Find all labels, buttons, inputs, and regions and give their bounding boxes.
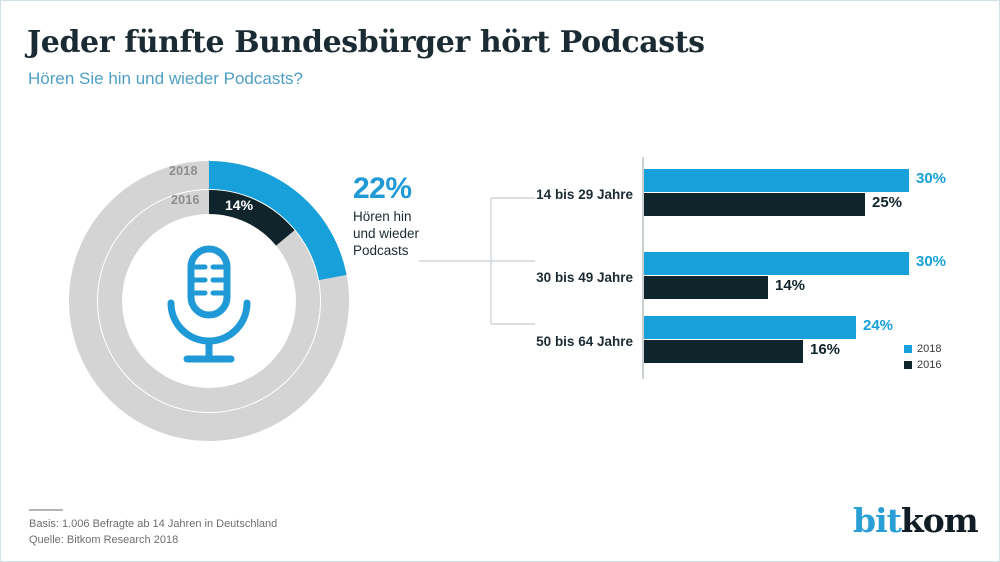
- footer-divider: [29, 509, 63, 511]
- bitkom-logo-kom: kom: [901, 501, 978, 540]
- infographic-canvas: Jeder fünfte Bundesbürger hört Podcasts …: [0, 0, 1000, 562]
- legend-swatch-2018-icon: [904, 345, 912, 353]
- bar-group-label-0: 14 bis 29 Jahre: [536, 187, 633, 202]
- bitkom-logo-bit: bit: [853, 501, 901, 540]
- donut-svg: [61, 153, 357, 449]
- bar-value-2016-0: 25%: [872, 194, 902, 211]
- donut-label-2018: 2018: [169, 164, 198, 178]
- legend-label-2016: 2016: [917, 359, 941, 371]
- donut-label-2016: 2016: [171, 193, 200, 207]
- bar-2018-1: [644, 252, 909, 275]
- page-title: Jeder fünfte Bundesbürger hört Podcasts: [27, 25, 705, 60]
- bar-value-2016-2: 16%: [810, 341, 840, 358]
- legend-item-2018: 2018: [904, 343, 941, 355]
- footer-source: Basis: 1.006 Befragte ab 14 Jahren in De…: [29, 517, 277, 549]
- bar-2016-2: [644, 340, 803, 363]
- legend-label-2018: 2018: [917, 343, 941, 355]
- donut-chart: 2018 2016 14%: [61, 153, 357, 449]
- bar-value-2018-1: 30%: [916, 253, 946, 270]
- page-subtitle: Hören Sie hin und wieder Podcasts?: [28, 69, 303, 89]
- bar-value-2018-0: 30%: [916, 170, 946, 187]
- footer-quelle: Quelle: Bitkom Research 2018: [29, 533, 277, 549]
- legend-swatch-2016-icon: [904, 361, 912, 369]
- footer-basis: Basis: 1.006 Befragte ab 14 Jahren in De…: [29, 517, 277, 533]
- legend-item-2016: 2016: [904, 359, 941, 371]
- bar-value-2018-2: 24%: [863, 317, 893, 334]
- bitkom-logo: bitkom: [853, 504, 978, 537]
- bar-2018-0: [644, 169, 909, 192]
- bar-2016-1: [644, 276, 768, 299]
- bar-2018-2: [644, 316, 856, 339]
- bar-value-2016-1: 14%: [775, 277, 805, 294]
- microphone-icon: [171, 249, 247, 359]
- bar-2016-0: [644, 193, 865, 216]
- bar-group-label-1: 30 bis 49 Jahre: [536, 270, 633, 285]
- chart-legend: 2018 2016: [904, 343, 941, 375]
- bar-group-label-2: 50 bis 64 Jahre: [536, 334, 633, 349]
- donut-value-2016: 14%: [225, 197, 253, 213]
